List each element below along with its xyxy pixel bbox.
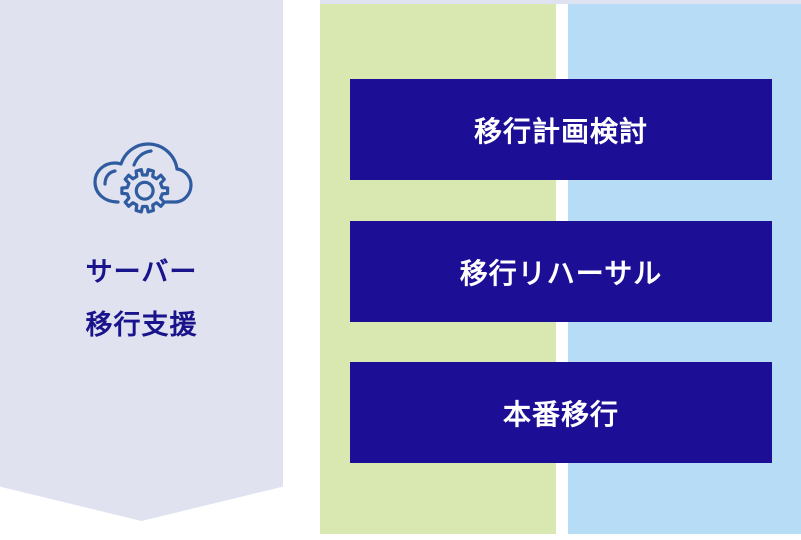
panel-title-line-1: サーバー [86,246,198,299]
panel-title: サーバー 移行支援 [86,246,198,351]
step-box-3[interactable]: 本番移行 [350,362,772,463]
cloud-gear-icon [90,136,194,220]
left-panel-content: サーバー 移行支援 [0,0,283,487]
left-panel: サーバー 移行支援 [0,0,283,521]
step-box-1[interactable]: 移行計画検討 [350,79,772,180]
panel-title-line-2: 移行支援 [86,299,198,352]
diagram-canvas: サーバー 移行支援 移行計画検討 移行リハーサル 本番移行 [0,0,801,540]
step-box-2[interactable]: 移行リハーサル [350,221,772,322]
step-label-3: 本番移行 [503,393,619,433]
step-label-1: 移行計画検討 [474,110,648,150]
step-label-2: 移行リハーサル [460,252,662,292]
